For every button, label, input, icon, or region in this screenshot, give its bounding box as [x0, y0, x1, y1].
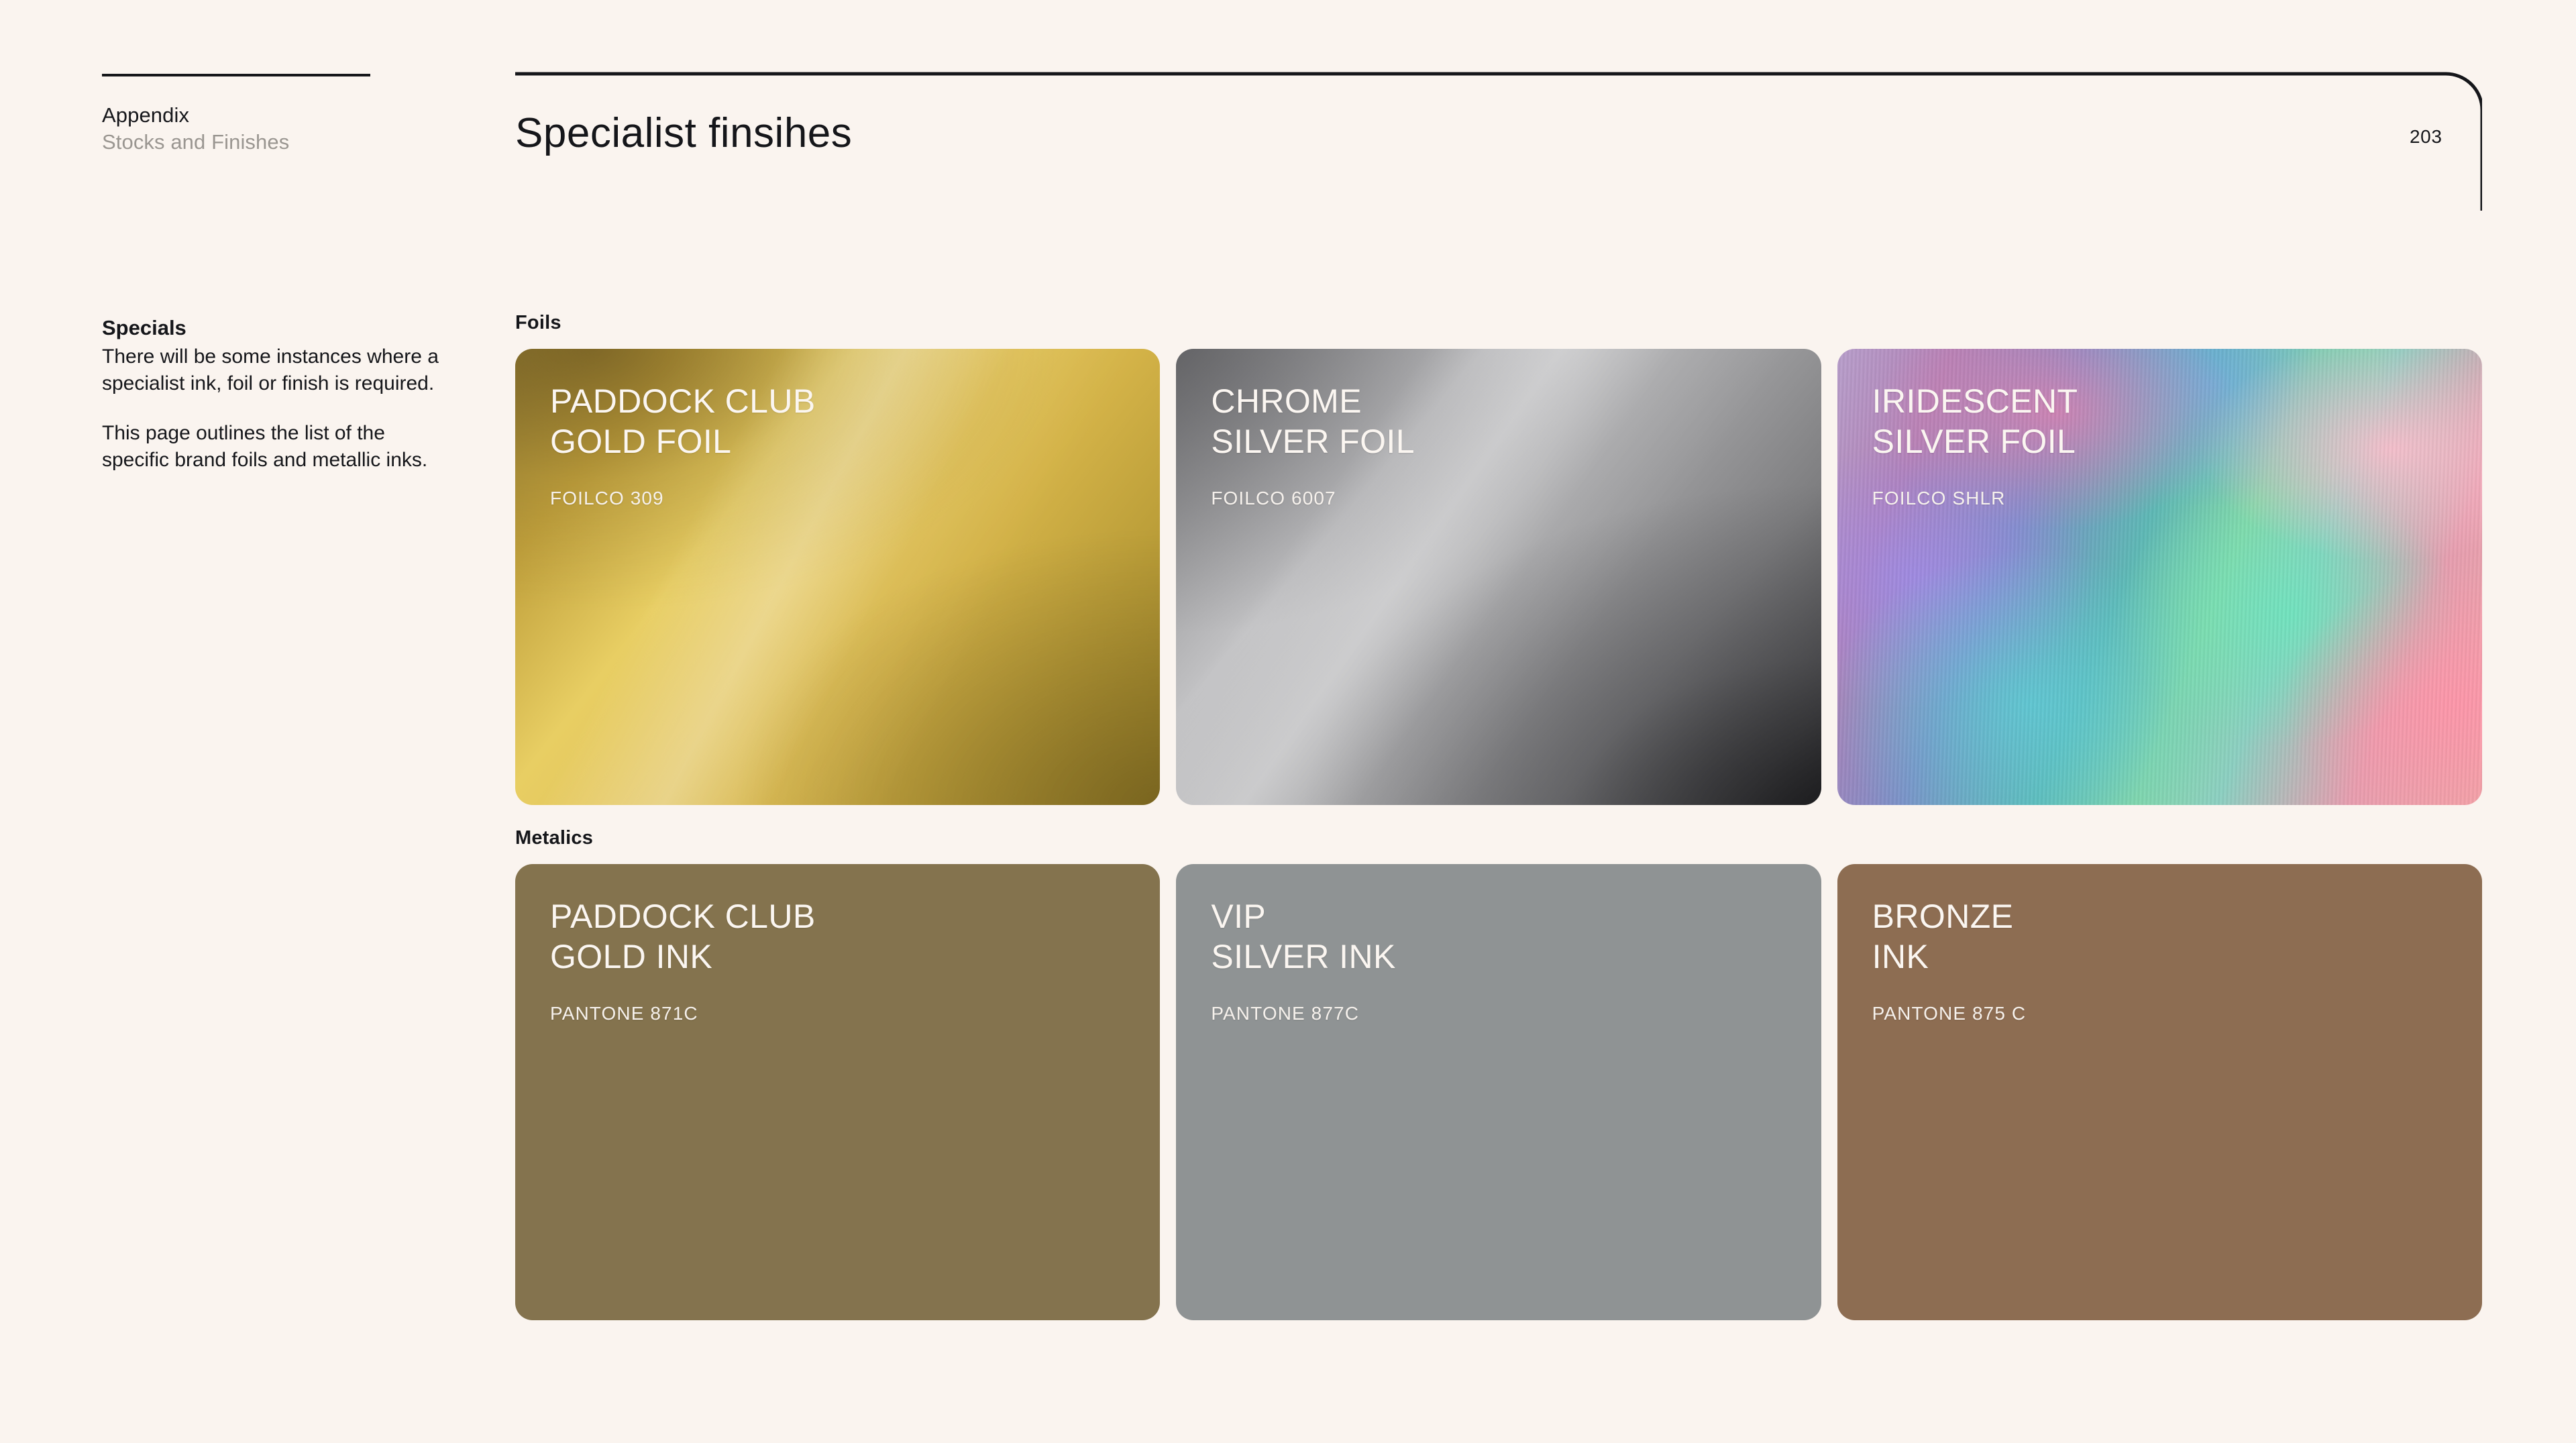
sidebar-note-title: Specials — [102, 314, 451, 342]
sidebar-note-paragraph-2: This page outlines the list of the speci… — [102, 420, 451, 474]
swatch-card-paddock-club-gold-foil[interactable]: PADDOCK CLUB GOLD FOIL FOILCO 309 — [515, 349, 1160, 805]
swatch-code: FOILCO SHLR — [1872, 487, 2455, 510]
swatch-name: PADDOCK CLUB GOLD INK — [550, 896, 1133, 977]
swatch-caption: IRIDESCENT SILVER FOIL FOILCO SHLR — [1872, 381, 2455, 510]
swatch-grid-metalics: PADDOCK CLUB GOLD INK PANTONE 871C VIP S… — [515, 864, 2482, 1320]
swatch-card-iridescent-silver-foil[interactable]: IRIDESCENT SILVER FOIL FOILCO SHLR — [1837, 349, 2482, 805]
section-label-metalics: Metalics — [515, 827, 593, 849]
swatch-grid-foils: PADDOCK CLUB GOLD FOIL FOILCO 309 CHROME… — [515, 349, 2482, 805]
section-label-foils: Foils — [515, 312, 561, 334]
swatch-caption: PADDOCK CLUB GOLD FOIL FOILCO 309 — [550, 381, 1133, 510]
swatch-code: FOILCO 6007 — [1211, 487, 1794, 510]
sidebar-note-paragraph-1: There will be some instances where a spe… — [102, 343, 451, 397]
swatch-caption: PADDOCK CLUB GOLD INK PANTONE 871C — [550, 896, 1133, 1025]
swatch-code: PANTONE 877C — [1211, 1002, 1794, 1025]
swatch-name: IRIDESCENT SILVER FOIL — [1872, 381, 2455, 462]
swatch-card-bronze-ink[interactable]: BRONZE INK PANTONE 875 C — [1837, 864, 2482, 1320]
swatch-code: PANTONE 875 C — [1872, 1002, 2455, 1025]
swatch-name: BRONZE INK — [1872, 896, 2455, 977]
swatch-code: FOILCO 309 — [550, 487, 1133, 510]
swatch-name: PADDOCK CLUB GOLD FOIL — [550, 381, 1133, 462]
page-title: Specialist finsihes — [515, 109, 852, 158]
swatch-name: VIP SILVER INK — [1211, 896, 1794, 977]
swatch-card-paddock-club-gold-ink[interactable]: PADDOCK CLUB GOLD INK PANTONE 871C — [515, 864, 1160, 1320]
swatch-name: CHROME SILVER FOIL — [1211, 381, 1794, 462]
swatch-card-chrome-silver-foil[interactable]: CHROME SILVER FOIL FOILCO 6007 — [1176, 349, 1821, 805]
breadcrumb-primary: Appendix — [102, 102, 451, 129]
swatch-caption: CHROME SILVER FOIL FOILCO 6007 — [1211, 381, 1794, 510]
swatch-caption: BRONZE INK PANTONE 875 C — [1872, 896, 2455, 1025]
swatch-code: PANTONE 871C — [550, 1002, 1133, 1025]
breadcrumb-secondary: Stocks and Finishes — [102, 129, 451, 156]
swatch-caption: VIP SILVER INK PANTONE 877C — [1211, 896, 1794, 1025]
swatch-card-vip-silver-ink[interactable]: VIP SILVER INK PANTONE 877C — [1176, 864, 1821, 1320]
page-number: 203 — [2410, 126, 2443, 148]
sidebar-note: Specials There will be some instances wh… — [102, 314, 451, 474]
breadcrumb: Appendix Stocks and Finishes — [102, 102, 451, 156]
header-rule-left — [102, 74, 370, 76]
document-page: Appendix Stocks and Finishes Specialist … — [0, 0, 2576, 1443]
